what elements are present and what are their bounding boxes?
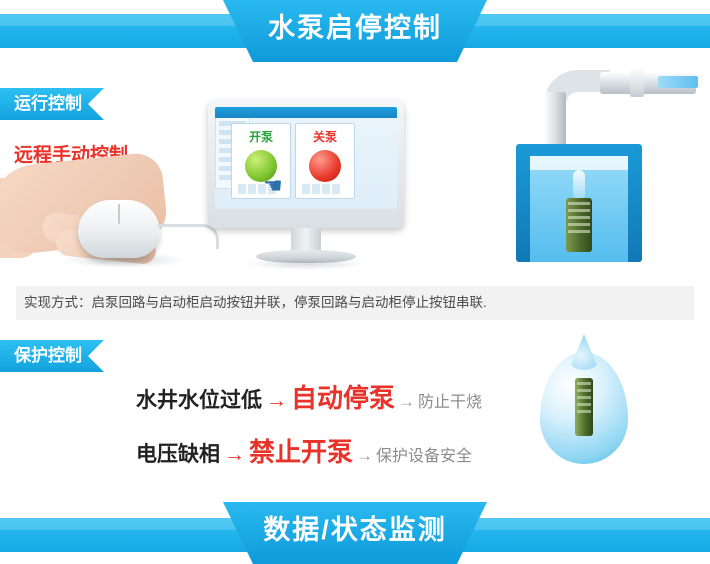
top-banner: 水泵启停控制 bbox=[0, 0, 710, 62]
protection-thin-arrow-icon: → bbox=[398, 392, 415, 411]
well-pump-illustration bbox=[508, 66, 694, 266]
protection-action: 禁止开泵 bbox=[249, 437, 353, 467]
infographic-stage: 水泵启停控制 运行控制 远程手动控制 开泵 关泵 bbox=[0, 0, 710, 564]
protection-note: 保护设备安全 bbox=[376, 448, 472, 465]
protection-row: 电压缺相→禁止开泵→保护设备安全 bbox=[136, 432, 472, 469]
protection-arrow-icon: → bbox=[266, 389, 287, 412]
stop-pump-panel[interactable]: 关泵 bbox=[295, 123, 355, 199]
water-jet bbox=[573, 170, 585, 200]
pipe-flange bbox=[630, 69, 644, 97]
computer-mouse-icon bbox=[78, 200, 160, 258]
monitor-shadow bbox=[244, 258, 368, 270]
bottom-banner-title: 数据/状态监测 bbox=[223, 502, 487, 558]
droplet-pump-icon bbox=[575, 378, 593, 436]
protection-arrow-icon: → bbox=[224, 443, 245, 466]
top-banner-title: 水泵启停控制 bbox=[223, 0, 487, 56]
water-droplet-icon bbox=[540, 352, 628, 464]
monitor-bezel: 开泵 关泵 ☚ bbox=[208, 100, 404, 228]
pipe-vertical bbox=[544, 92, 566, 150]
panel-bars bbox=[302, 181, 348, 193]
screen-titlebar bbox=[215, 107, 397, 118]
protection-row: 水井水位过低→自动停泵→防止干烧 bbox=[136, 378, 482, 415]
method-note: 实现方式：启泵回路与启动柜启动按钮并联，停泵回路与启动柜停止按钮串联. bbox=[16, 286, 694, 320]
protection-action: 自动停泵 bbox=[291, 383, 395, 413]
protection-thin-arrow-icon: → bbox=[356, 446, 373, 465]
tag-protect-control: 保护控制 bbox=[0, 340, 104, 372]
monitor-screen: 开泵 关泵 ☚ bbox=[215, 107, 397, 209]
submersible-pump-icon bbox=[566, 198, 592, 252]
start-pump-label: 开泵 bbox=[232, 128, 290, 145]
monitor-illustration: 开泵 关泵 ☚ bbox=[208, 100, 404, 268]
mouse-button-split bbox=[118, 204, 120, 224]
protection-note: 防止干烧 bbox=[418, 394, 482, 411]
protection-condition: 电压缺相 bbox=[136, 443, 220, 466]
stop-pump-label: 关泵 bbox=[296, 128, 354, 145]
pipe-water-flow bbox=[658, 76, 698, 88]
protection-condition: 水井水位过低 bbox=[136, 389, 262, 412]
bottom-banner: 数据/状态监测 bbox=[0, 502, 710, 564]
well-shaft bbox=[516, 144, 642, 262]
stop-pump-indicator[interactable] bbox=[309, 150, 341, 182]
tag-run-control: 运行控制 bbox=[0, 88, 104, 120]
hand-pointer-icon: ☚ bbox=[263, 175, 285, 201]
